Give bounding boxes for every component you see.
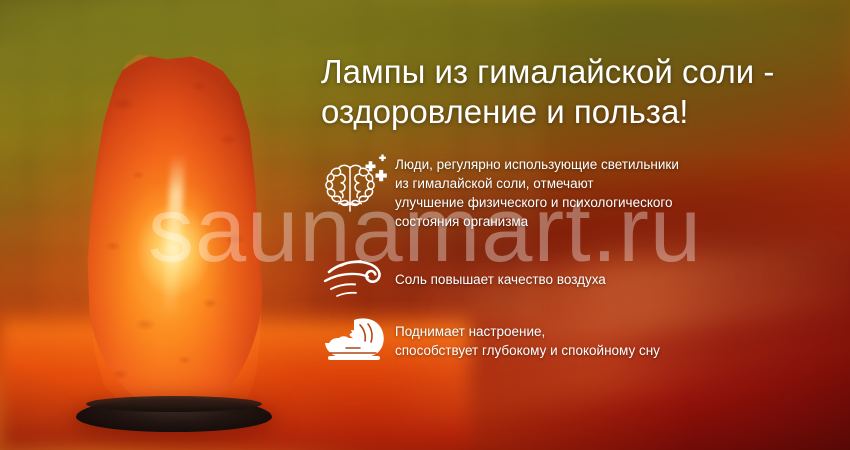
salt-lamp-promo-banner: saunamart.ru Лампы из гималайской соли -… (0, 0, 850, 450)
feature-line: улучшение физического и психологического (395, 193, 679, 212)
feature-line: из гималайской соли, отмечают (395, 174, 679, 193)
feature-text: Соль повышает качество воздуха (395, 270, 606, 289)
page-title: Лампы из гималайской соли - оздоровление… (321, 52, 841, 132)
feature-line: Соль повышает качество воздуха (395, 270, 606, 289)
feature-text: Люди, регулярно использующие светильники… (395, 150, 679, 231)
feature-item-brain: Люди, регулярно использующие светильники… (321, 150, 841, 248)
feature-line: состояния организма (395, 212, 679, 231)
headline-line-1: Лампы из гималайской соли - (321, 52, 841, 92)
feature-text: Поднимает настроение, способствует глубо… (395, 322, 660, 360)
feature-line: Люди, регулярно использующие светильники (395, 155, 679, 174)
feature-item-air-quality: Соль повышает качество воздуха (321, 248, 841, 310)
feature-item-sleep: Поднимает настроение, способствует глубо… (321, 310, 841, 372)
brain-icon (321, 150, 395, 216)
sleeping-person-icon (321, 315, 395, 367)
wind-icon (321, 256, 395, 302)
feature-list: Люди, регулярно использующие светильники… (321, 150, 841, 372)
feature-line: Поднимает настроение, (395, 322, 660, 341)
headline-line-2: оздоровление и польза! (321, 92, 841, 132)
feature-line: способствует глубокому и спокойному сну (395, 341, 660, 360)
